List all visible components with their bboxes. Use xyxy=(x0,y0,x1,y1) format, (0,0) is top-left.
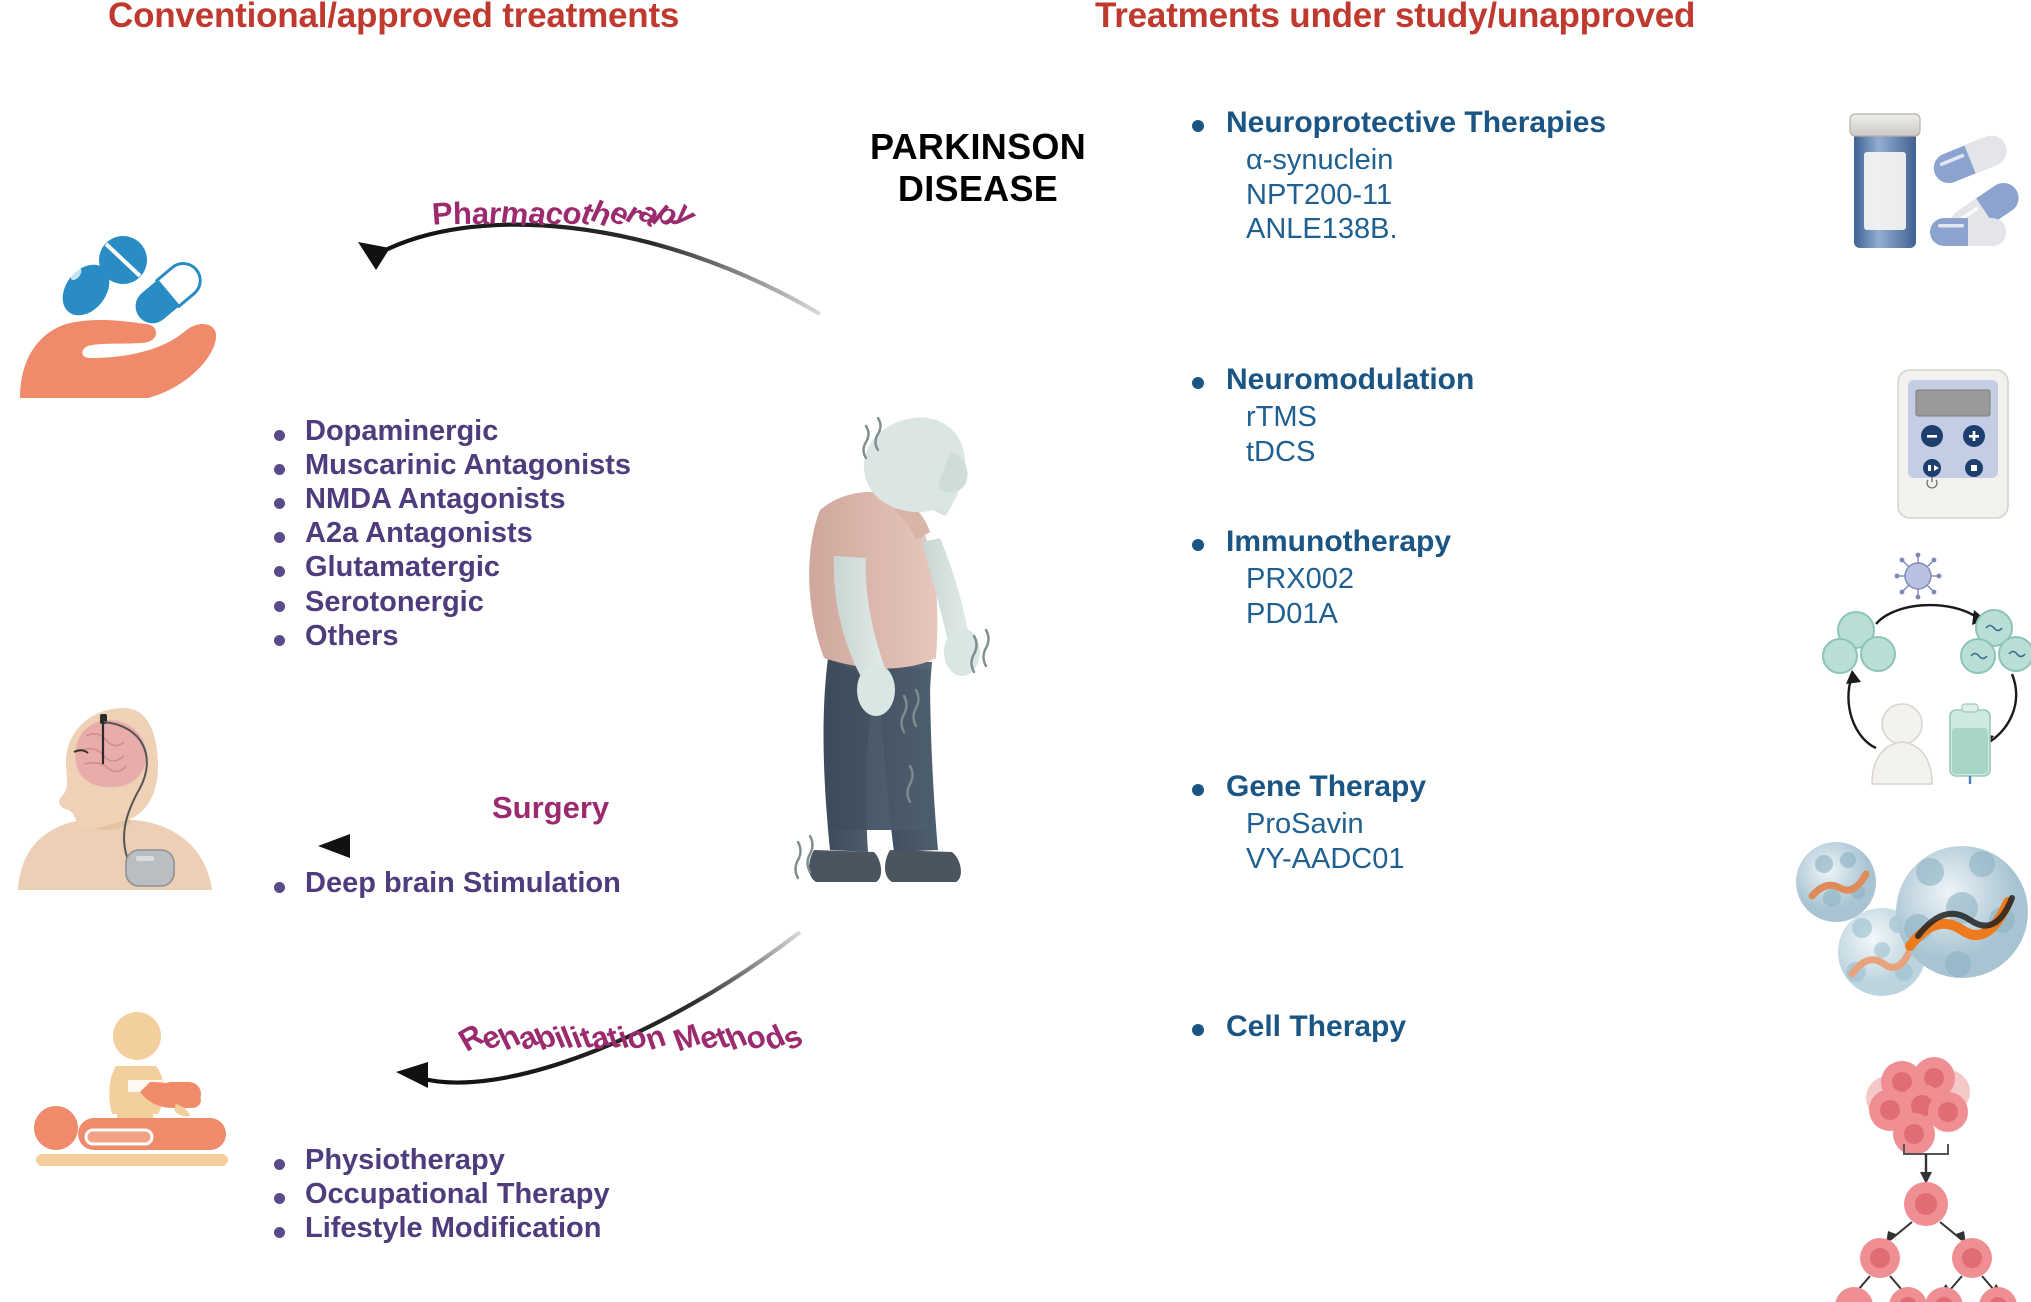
list-item: Others xyxy=(262,621,631,653)
list-item: Muscarinic Antagonists xyxy=(262,450,631,482)
surgery-list: Deep brain Stimulation xyxy=(262,868,621,904)
group-heading: Cell Therapy xyxy=(1180,1010,1406,1043)
stem-cell-differentiation-icon xyxy=(1862,1062,2031,1302)
group-items: rTMS tDCS xyxy=(1180,400,1474,469)
group-cell-therapy: Cell Therapy xyxy=(1180,1010,1406,1043)
rehabilitation-list: Physiotherapy Occupational Therapy Lifes… xyxy=(262,1145,610,1247)
pill-bottle-capsules-icon xyxy=(1848,106,2031,251)
list-item: Lifestyle Modification xyxy=(262,1213,610,1245)
list-item: Glutamatergic xyxy=(262,552,631,584)
list-item: ProSavin xyxy=(1246,807,1426,842)
list-item: α-synuclein xyxy=(1246,143,1606,178)
column-header-under-study: Treatments under study/unapproved xyxy=(1095,0,1695,36)
arrow-label-surgery: Surgery xyxy=(492,790,609,826)
list-item: VY-AADC01 xyxy=(1246,842,1426,877)
arrow-label-pharmacotherapy: Pharmacotherapy xyxy=(432,196,694,232)
list-item: Physiotherapy xyxy=(262,1145,610,1177)
group-heading: Neuroprotective Therapies xyxy=(1180,106,1606,139)
group-neuromodulation: Neuromodulation rTMS tDCS xyxy=(1180,363,1474,469)
group-heading: Neuromodulation xyxy=(1180,363,1474,396)
group-neuroprotective-therapies: Neuroprotective Therapies α-synuclein NP… xyxy=(1180,106,1606,247)
page-title-line1: PARKINSON xyxy=(838,126,1118,168)
arrow-surgery xyxy=(318,826,838,866)
group-heading: Gene Therapy xyxy=(1180,770,1426,803)
physiotherapy-massage-icon xyxy=(16,996,231,1176)
list-item: NPT200-11 xyxy=(1246,178,1606,213)
column-header-conventional: Conventional/approved treatments xyxy=(108,0,679,36)
group-gene-therapy: Gene Therapy ProSavin VY-AADC01 xyxy=(1180,770,1426,876)
pharmacotherapy-list: Dopaminergic Muscarinic Antagonists NMDA… xyxy=(262,416,631,655)
list-item: Deep brain Stimulation xyxy=(262,868,621,900)
page-title: PARKINSON DISEASE xyxy=(838,126,1118,210)
list-item: A2a Antagonists xyxy=(262,518,631,550)
group-items: PRX002 PD01A xyxy=(1180,562,1451,631)
deep-brain-stimulation-icon xyxy=(16,692,231,892)
list-item: Serotonergic xyxy=(262,587,631,619)
list-item: NMDA Antagonists xyxy=(262,484,631,516)
group-immunotherapy: Immunotherapy PRX002 PD01A xyxy=(1180,525,1451,631)
group-items: ProSavin VY-AADC01 xyxy=(1180,807,1426,876)
list-item: rTMS xyxy=(1246,400,1474,435)
group-items: α-synuclein NPT200-11 ANLE138B. xyxy=(1180,143,1606,247)
arrow-label-rehabilitation: Rehabilitation Methods xyxy=(460,1020,801,1056)
list-item: tDCS xyxy=(1246,435,1474,470)
list-item: PRX002 xyxy=(1246,562,1451,597)
page-title-line2: DISEASE xyxy=(838,168,1118,210)
hand-holding-pills-icon xyxy=(18,212,233,402)
list-item: Occupational Therapy xyxy=(262,1179,610,1211)
immunotherapy-cycle-icon xyxy=(1832,552,2031,784)
list-item: Dopaminergic xyxy=(262,416,631,448)
list-item: ANLE138B. xyxy=(1246,212,1606,247)
stimulator-device-icon xyxy=(1894,368,2014,520)
list-item: PD01A xyxy=(1246,597,1451,632)
viral-vector-dna-icon xyxy=(1822,824,2031,1004)
group-heading: Immunotherapy xyxy=(1180,525,1451,558)
